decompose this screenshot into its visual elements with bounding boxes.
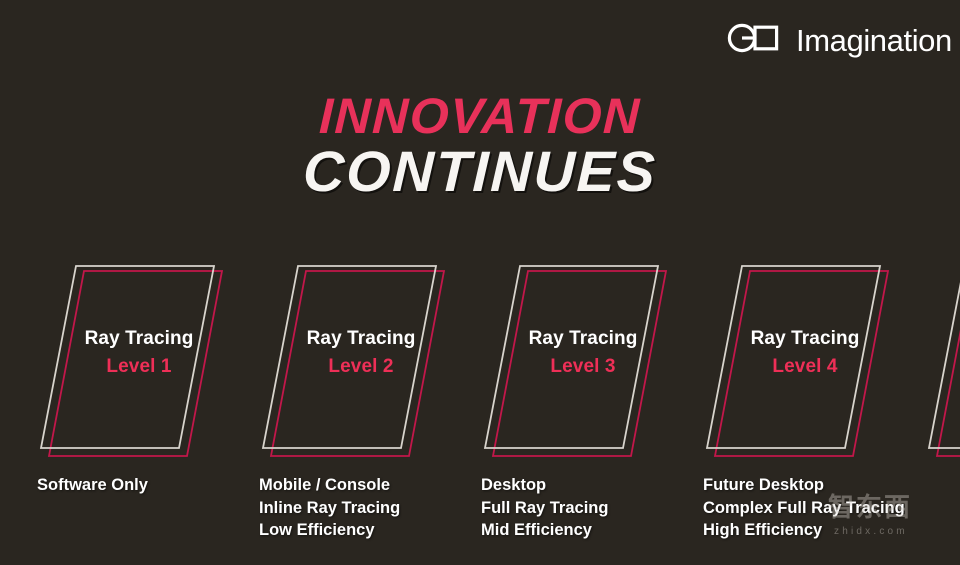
level-card: Ray Tracing Level 4	[690, 258, 920, 458]
level-card-partial	[912, 258, 960, 458]
ray-tracing-levels-row: Ray Tracing Level 1 Ray Tracing Level 2	[0, 258, 960, 458]
headline-line-2: CONTINUES	[0, 145, 960, 200]
caption-line: Inline Ray Tracing	[259, 497, 400, 520]
brand-logo: Imagination	[727, 22, 952, 59]
level-caption: Software Only	[37, 474, 148, 497]
caption-line: Low Efficiency	[259, 519, 400, 542]
level-card-level: Level 1	[24, 356, 254, 378]
level-card-level: Level 3	[468, 356, 698, 378]
level-captions-row: Software Only Mobile / Console Inline Ra…	[0, 474, 960, 559]
caption-line: Software Only	[37, 474, 148, 497]
level-card-title: Ray Tracing	[468, 328, 698, 350]
level-card: Ray Tracing Level 2	[246, 258, 476, 458]
level-caption: Mobile / Console Inline Ray Tracing Low …	[259, 474, 400, 542]
caption-line: Mobile / Console	[259, 474, 400, 497]
level-card-title: Ray Tracing	[246, 328, 476, 350]
level-card-text: Ray Tracing Level 2	[246, 328, 476, 379]
level-card-level: Level 4	[690, 356, 920, 378]
caption-line: Complex Full Ray Tracing	[703, 497, 905, 520]
level-card-title: Ray Tracing	[690, 328, 920, 350]
headline-line-1: INNOVATION	[0, 92, 960, 140]
level-card-text: Ray Tracing Level 4	[690, 328, 920, 379]
caption-line: Full Ray Tracing	[481, 497, 608, 520]
slide-canvas: Imagination INNOVATION CONTINUES Ray Tra…	[0, 0, 960, 565]
level-card-title: Ray Tracing	[24, 328, 254, 350]
page-title: INNOVATION CONTINUES	[0, 92, 960, 200]
level-caption: Future Desktop Complex Full Ray Tracing …	[703, 474, 905, 542]
parallelogram-outline-white	[912, 258, 960, 458]
level-card: Ray Tracing Level 3	[468, 258, 698, 458]
caption-line: Future Desktop	[703, 474, 905, 497]
level-caption: Desktop Full Ray Tracing Mid Efficiency	[481, 474, 608, 542]
level-card-text: Ray Tracing Level 1	[24, 328, 254, 379]
level-card: Ray Tracing Level 1	[24, 258, 254, 458]
caption-line: Mid Efficiency	[481, 519, 608, 542]
imagination-circle-square-logo	[727, 22, 785, 59]
caption-line: Desktop	[481, 474, 608, 497]
level-card-text: Ray Tracing Level 3	[468, 328, 698, 379]
caption-line: High Efficiency	[703, 519, 905, 542]
brand-name: Imagination	[796, 25, 952, 56]
level-card-level: Level 2	[246, 356, 476, 378]
